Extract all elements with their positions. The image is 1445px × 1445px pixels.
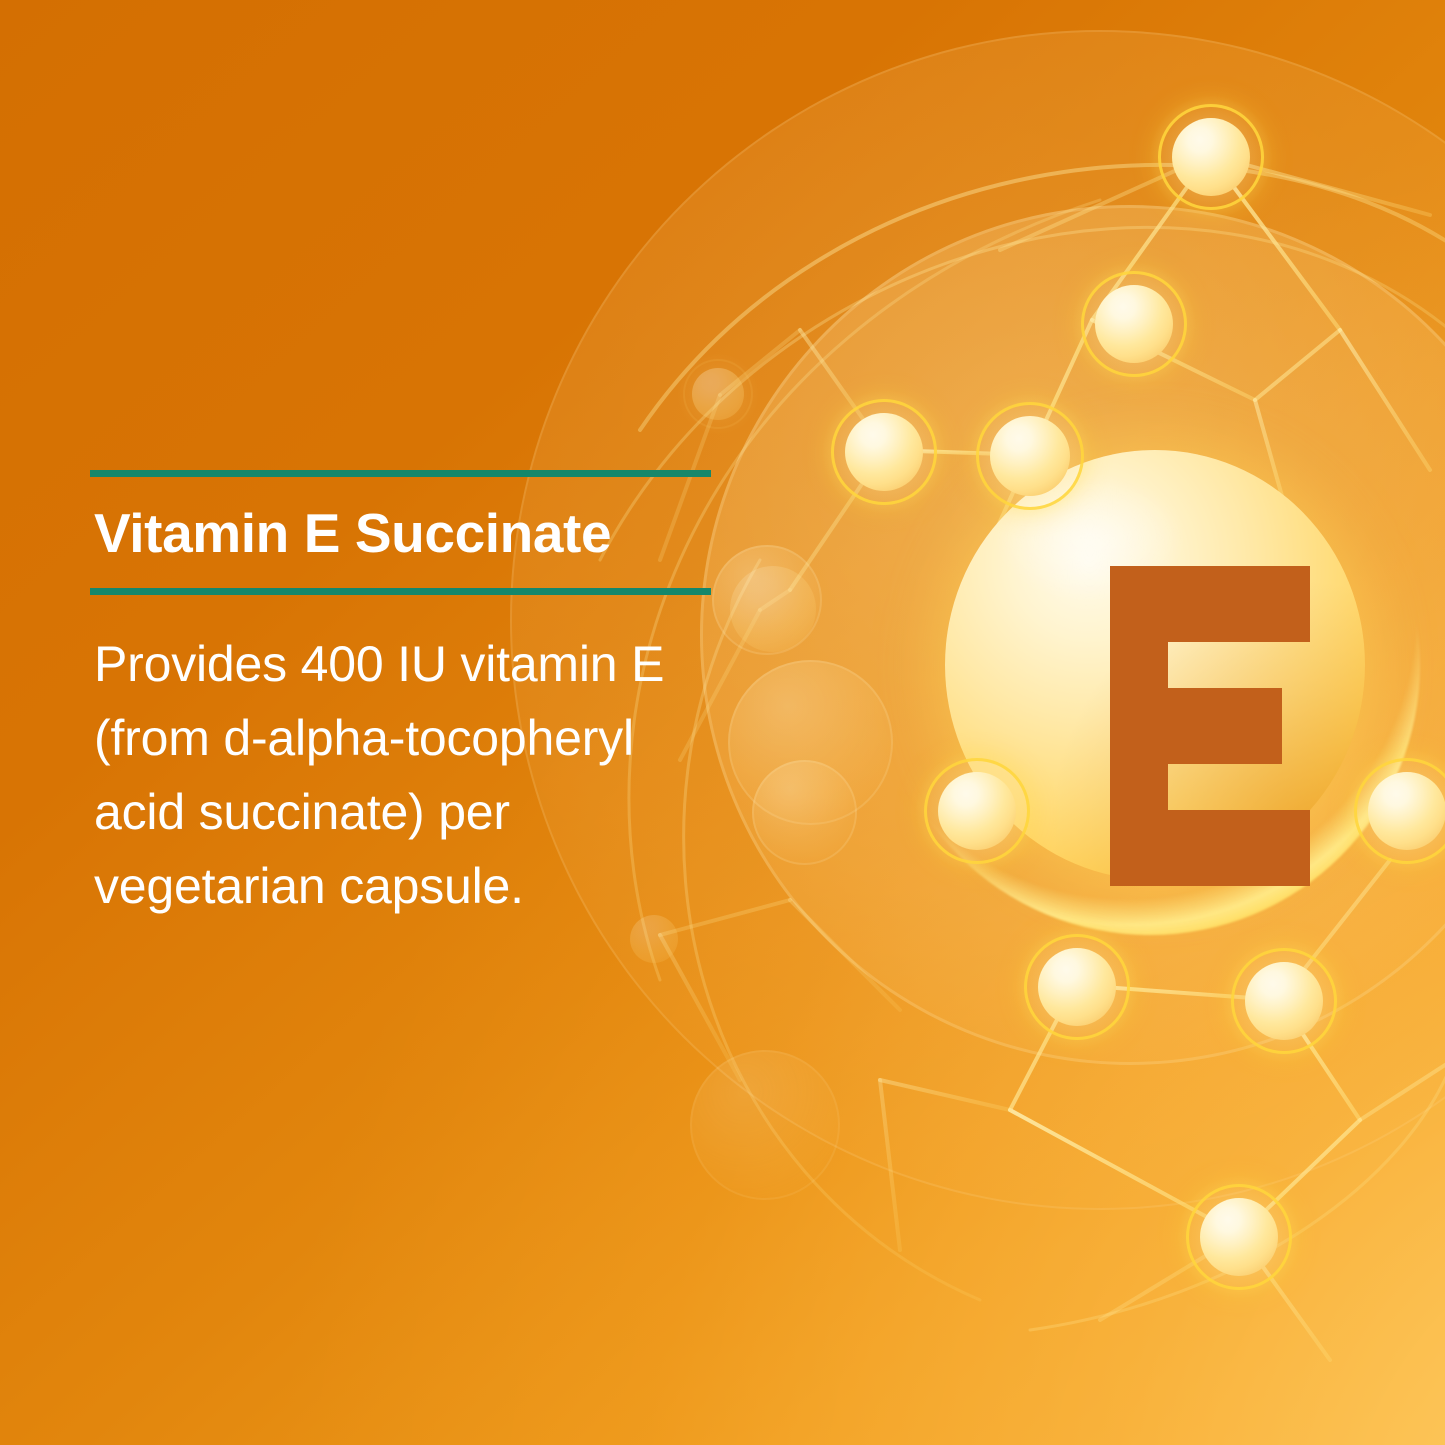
description-line-1: Provides 400 IU vitamin E	[94, 636, 664, 692]
copy-block: Vitamin E Succinate Provides 400 IU vita…	[90, 470, 730, 923]
description-line-3: acid succinate) per	[94, 784, 510, 840]
description-line-2: (from d-alpha-tocopheryl	[94, 710, 634, 766]
molecule-node-faint-left	[692, 368, 744, 420]
molecule-node-left-a	[845, 413, 923, 491]
molecule-node-right-edge	[1368, 772, 1445, 850]
ghost-bubble-2	[728, 660, 893, 825]
capsule-core-shading	[945, 450, 1365, 880]
molecule-node-left-b	[990, 416, 1070, 496]
letter-e-glyph	[1110, 566, 1310, 886]
molecule-node-top	[1172, 118, 1250, 196]
molecule-node-ghost-upper	[730, 566, 816, 652]
divider-bottom	[90, 588, 711, 595]
capsule-highlight	[1000, 478, 1180, 598]
mid-shell-sphere	[700, 205, 1445, 1065]
molecule-node-left-lower	[938, 772, 1016, 850]
molecule-node-bottom-mid	[1245, 962, 1323, 1040]
molecule-node-upper-mid	[1095, 285, 1173, 363]
ghost-bubble-3	[752, 760, 857, 865]
molecule-node-bottom	[1200, 1198, 1278, 1276]
page-title: Vitamin E Succinate	[94, 505, 730, 561]
ghost-bubble-4	[690, 1050, 840, 1200]
molecule-node-bottom-left	[1038, 948, 1116, 1026]
divider-top	[90, 470, 711, 477]
product-feature-graphic: Vitamin E Succinate Provides 400 IU vita…	[0, 0, 1445, 1445]
description-text: Provides 400 IU vitamin E (from d-alpha-…	[94, 627, 730, 923]
capsule-core	[945, 450, 1365, 880]
capsule-ring	[880, 395, 1420, 935]
description-line-4: vegetarian capsule.	[94, 858, 524, 914]
